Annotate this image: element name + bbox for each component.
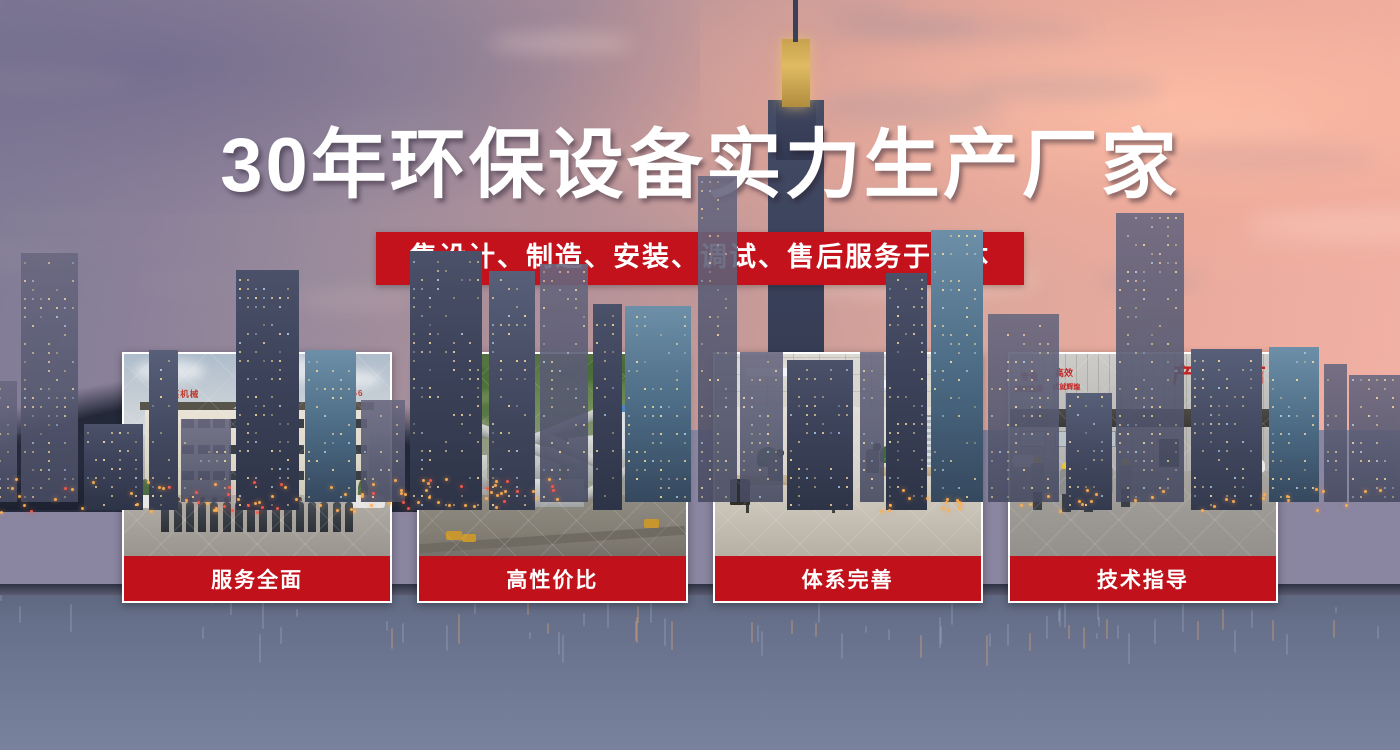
banner-stage: 30年环保设备实力生产厂家 集设计、制造、安装、调试、售后服务于一体 (0, 0, 1400, 750)
river-water (0, 595, 1400, 750)
card-caption: 体系完善 (715, 556, 981, 601)
tower-golden-crown (782, 39, 810, 107)
card-caption: 服务全面 (124, 556, 390, 601)
tower-antenna-spire (793, 0, 798, 42)
card-caption: 高性价比 (419, 556, 685, 601)
card-caption: 技术指导 (1010, 556, 1276, 601)
